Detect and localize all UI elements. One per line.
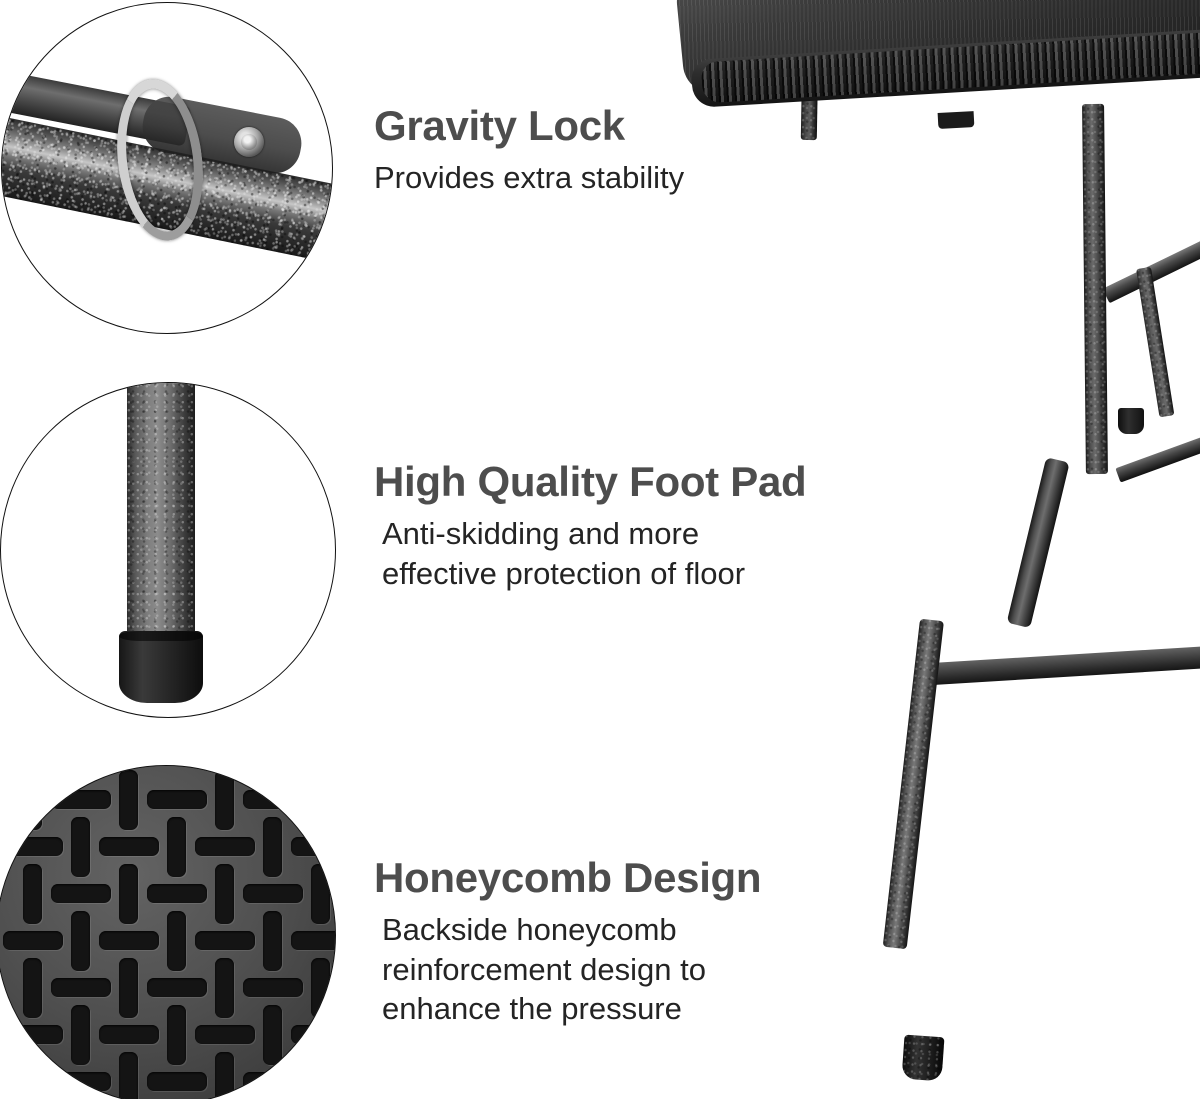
callout-body-gravity-lock: Provides extra stability <box>374 158 684 198</box>
honeycomb-slot <box>71 911 90 971</box>
honeycomb-slot <box>243 884 303 903</box>
honeycomb-slot <box>215 770 234 830</box>
honeycomb-slot <box>215 1052 234 1099</box>
honeycomb-slot <box>167 911 186 971</box>
honeycomb-slot <box>195 931 255 950</box>
rubber-foot-cap <box>119 631 203 703</box>
detail-circle-foot-pad <box>0 382 336 718</box>
honeycomb-slot <box>263 1005 282 1065</box>
callout-heading-foot-pad: High Quality Foot Pad <box>374 460 806 504</box>
honeycomb-slot <box>147 884 207 903</box>
honeycomb-slot <box>311 770 330 830</box>
honeycomb-slot <box>119 770 138 830</box>
back-short-leg <box>1136 267 1174 417</box>
honeycomb-slot <box>195 1025 255 1044</box>
honeycomb-slot <box>23 958 42 1018</box>
table-leg-tube <box>127 382 195 645</box>
honeycomb-slot <box>51 1072 111 1091</box>
honeycomb-slot <box>51 978 111 997</box>
honeycomb-slot <box>71 1005 90 1065</box>
honeycomb-slot <box>147 978 207 997</box>
honeycomb-slot <box>71 817 90 877</box>
honeycomb-slot <box>23 770 42 830</box>
honeycomb-slot <box>119 958 138 1018</box>
honeycomb-slot <box>215 958 234 1018</box>
honeycomb-slot <box>291 931 336 950</box>
honeycomb-slot <box>3 1025 63 1044</box>
honeycomb-slot <box>51 884 111 903</box>
gravity-lock-photo <box>2 3 332 333</box>
honeycomb-slot <box>119 864 138 924</box>
honeycomb-slot <box>311 1052 330 1099</box>
honeycomb-slot <box>291 1025 336 1044</box>
honeycomb-slot <box>3 931 63 950</box>
callout-heading-gravity-lock: Gravity Lock <box>374 104 684 148</box>
honeycomb-slot <box>99 1025 159 1044</box>
honeycomb-slot <box>119 1052 138 1099</box>
callout-text-foot-pad: High Quality Foot Pad Anti-skidding and … <box>374 460 806 593</box>
honeycomb-slot <box>195 837 255 856</box>
detail-circle-honeycomb <box>0 765 336 1099</box>
honeycomb-slot <box>51 790 111 809</box>
honeycomb-slot <box>23 864 42 924</box>
front-leg-lower <box>883 619 944 950</box>
callout-text-honeycomb: Honeycomb Design Backside honeycombreinf… <box>374 856 761 1029</box>
front-leg-foot-cap <box>902 1035 945 1082</box>
callout-text-gravity-lock: Gravity Lock Provides extra stability <box>374 104 684 198</box>
honeycomb-slot <box>99 837 159 856</box>
back-leg-foot-cap <box>1118 408 1144 434</box>
honeycomb-slot <box>243 978 303 997</box>
rivet-icon <box>234 127 264 157</box>
honeycomb-slot <box>3 837 63 856</box>
honeycomb-slot <box>99 931 159 950</box>
honeycomb-slot <box>263 817 282 877</box>
callout-body-foot-pad: Anti-skidding and moreeffective protecti… <box>374 514 806 593</box>
honeycomb-slot <box>23 1052 42 1099</box>
product-feature-infographic: Gravity Lock Provides extra stability Hi… <box>0 0 1200 1099</box>
front-leg-upper <box>1082 104 1108 474</box>
honeycomb-slot <box>147 1072 207 1091</box>
honeycomb-slot <box>243 790 303 809</box>
cross-brace <box>915 646 1200 686</box>
front-leg-bend <box>1007 457 1070 628</box>
honeycomb-slot <box>147 790 207 809</box>
honeycomb-slot <box>311 864 330 924</box>
honeycomb-slot <box>291 837 336 856</box>
honeycomb-slot <box>167 1005 186 1065</box>
detail-circle-gravity-lock <box>1 2 333 334</box>
honeycomb-slot <box>215 864 234 924</box>
callout-heading-honeycomb: Honeycomb Design <box>374 856 761 900</box>
honeycomb-slot <box>243 1072 303 1091</box>
honeycomb-slot <box>263 911 282 971</box>
hinge-nub <box>938 111 975 129</box>
callout-body-honeycomb: Backside honeycombreinforcement design t… <box>374 910 761 1029</box>
honeycomb-slot <box>311 958 330 1018</box>
honeycomb-slot <box>167 817 186 877</box>
